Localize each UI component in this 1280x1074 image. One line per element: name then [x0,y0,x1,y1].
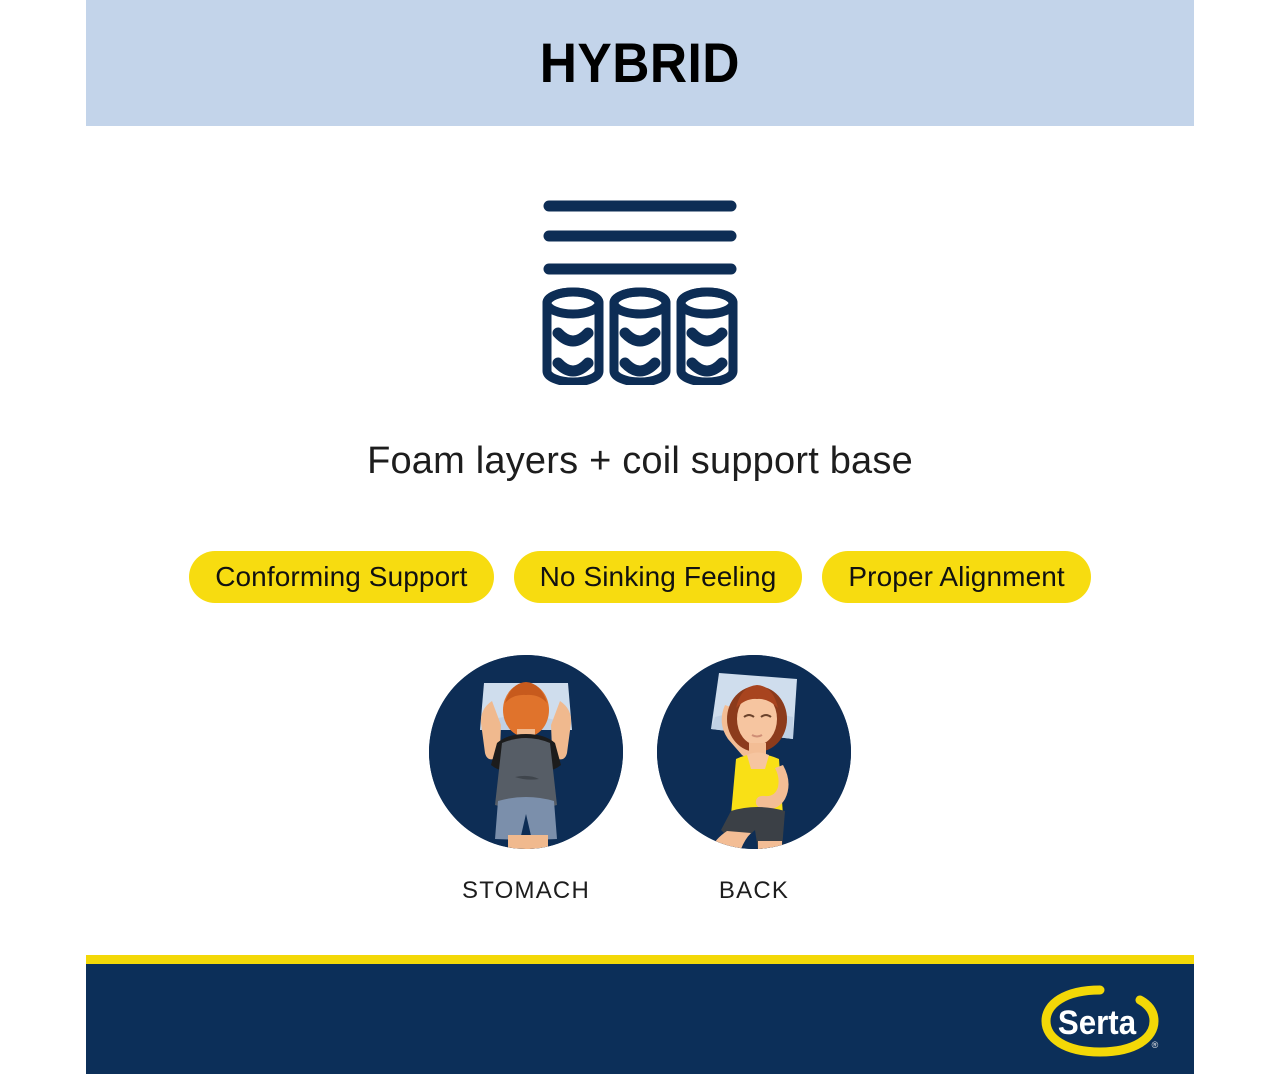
sleep-position-label: STOMACH [462,877,590,905]
serta-logo[interactable]: Serta ® [1034,982,1166,1060]
sleep-position-label: BACK [719,877,789,905]
badge-label: No Sinking Feeling [540,561,777,593]
badge-conforming-support[interactable]: Conforming Support [189,551,493,603]
sleep-position-stomach[interactable]: STOMACH [429,655,623,905]
hybrid-mattress-icon [540,185,740,385]
back-sleeper-illustration [657,655,851,849]
page-title: HYBRID [540,35,740,91]
sleep-position-back[interactable]: BACK [657,655,851,905]
footer-accent-stripe [86,955,1194,964]
badge-label: Proper Alignment [848,561,1064,593]
badge-no-sinking-feeling[interactable]: No Sinking Feeling [514,551,803,603]
back-sleeper-avatar [657,655,851,849]
hybrid-mattress-card: HYBRID [86,0,1194,1074]
badge-proper-alignment[interactable]: Proper Alignment [822,551,1090,603]
footer-band: Serta ® [86,964,1194,1074]
serta-wordmark: Serta [1058,1003,1137,1042]
badge-label: Conforming Support [215,561,467,593]
stomach-sleeper-avatar [429,655,623,849]
sleep-position-list: STOMACH [86,655,1194,905]
header-band: HYBRID [86,0,1194,126]
stomach-sleeper-illustration [429,655,623,849]
icon-container [86,185,1194,385]
feature-badge-list: Conforming Support No Sinking Feeling Pr… [86,551,1194,603]
registered-trademark-symbol: ® [1152,1040,1159,1050]
tagline: Foam layers + coil support base [86,440,1194,483]
